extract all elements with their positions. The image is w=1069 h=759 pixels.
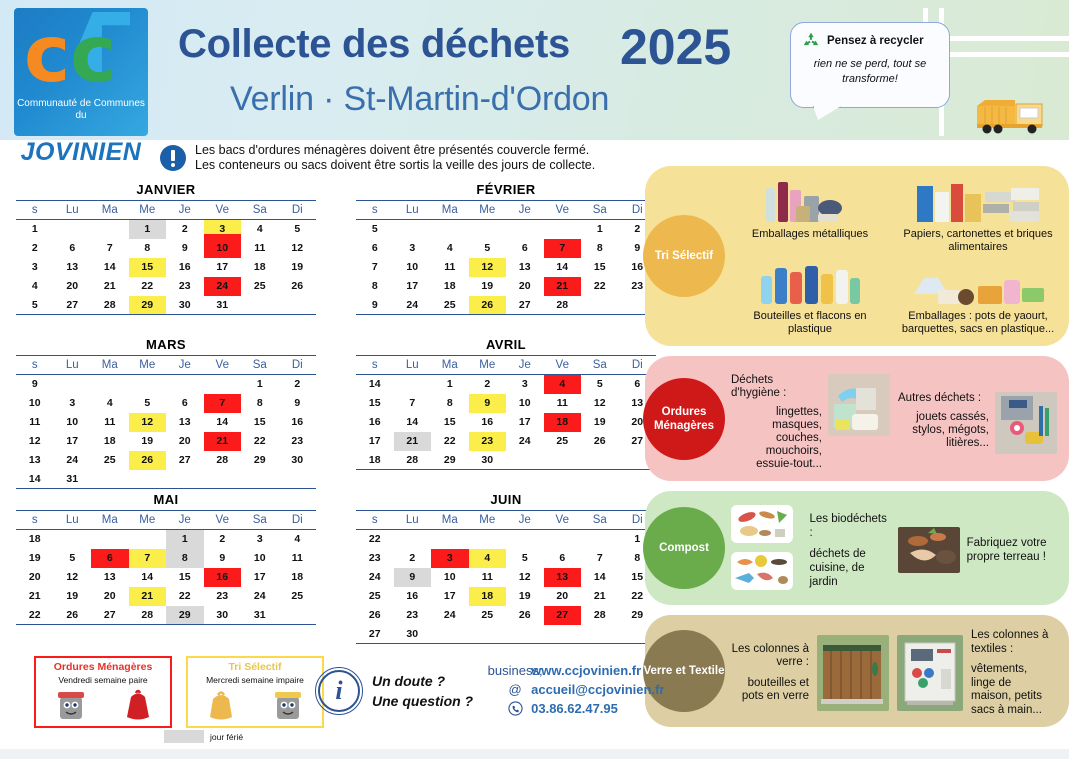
calendar-day-cell[interactable]: 24 — [431, 606, 469, 625]
calendar-day-cell[interactable]: 22 — [431, 432, 469, 451]
calendar-day-cell[interactable]: 16 — [204, 568, 242, 587]
calendar-day-cell[interactable]: 12 — [129, 413, 167, 432]
calendar-day-cell[interactable]: 25 — [279, 587, 317, 606]
calendar-week-row: 1721222324252627 — [356, 432, 656, 451]
calendar-day-cell[interactable]: 14 — [129, 568, 167, 587]
calendar-day-cell[interactable]: 13 — [506, 258, 544, 277]
calendar-day-cell[interactable]: 21 — [544, 277, 582, 296]
calendar-day-cell[interactable]: 27 — [166, 451, 204, 470]
calendar-header-me: Me — [129, 511, 167, 530]
calendar-day-cell[interactable]: 11 — [469, 568, 507, 587]
tri-item-1: Papiers, cartonettes et briques alimenta… — [899, 176, 1057, 254]
calendar-day-cell[interactable]: 11 — [544, 394, 582, 413]
calendar-day-cell[interactable]: 2 — [279, 375, 317, 394]
calendar-day-cell[interactable]: 7 — [544, 239, 582, 258]
legend-ferie-label: jour férié — [210, 732, 243, 742]
calendar-day-cell[interactable]: 11 — [91, 413, 129, 432]
calendar-day-cell[interactable]: 26 — [469, 296, 507, 315]
calendar-header-sa: Sa — [581, 201, 619, 220]
calendar-day-cell[interactable]: 17 — [54, 432, 92, 451]
calendar-day-cell[interactable]: 17 — [506, 413, 544, 432]
calendar-day-cell[interactable]: 29 — [431, 451, 469, 470]
verre-glass-body: bouteilles et pots en verre — [742, 677, 809, 703]
calendar-day-cell[interactable]: 20 — [506, 277, 544, 296]
calendar-day-cell[interactable]: 2 — [166, 220, 204, 239]
calendar-header-me: Me — [129, 201, 167, 220]
grey-bin-character-icon — [54, 687, 88, 723]
calendar-day-cell[interactable]: 26 — [129, 451, 167, 470]
calendar-day-cell[interactable]: 7 — [91, 239, 129, 258]
calendar-header-ve: Ve — [544, 356, 582, 375]
calendar-header-je: Je — [506, 356, 544, 375]
calendar-day-cell[interactable]: 8 — [129, 239, 167, 258]
bubble-title: Pensez à recycler — [827, 35, 924, 47]
calendar-day-cell[interactable]: 19 — [469, 277, 507, 296]
contact-email[interactable]: accueil@ccjovinien.fr — [531, 682, 664, 697]
calendar-day-cell[interactable]: 7 — [204, 394, 242, 413]
calendar-week-number: 8 — [356, 277, 394, 296]
calendar-empty-cell — [129, 470, 167, 489]
calendar-day-cell[interactable]: 28 — [129, 606, 167, 625]
calendar-day-cell[interactable]: 6 — [506, 239, 544, 258]
calendar-day-cell[interactable]: 26 — [54, 606, 92, 625]
calendar-day-cell[interactable]: 24 — [204, 277, 242, 296]
calendar-week-row: 710111213141516 — [356, 258, 656, 277]
contact-phone[interactable]: 03.86.62.47.95 — [531, 701, 618, 716]
calendar-day-cell[interactable]: 16 — [394, 587, 432, 606]
calendar-day-cell[interactable]: 10 — [204, 239, 242, 258]
calendar-header-ma: Ma — [431, 511, 469, 530]
calendar-day-cell[interactable]: 14 — [544, 258, 582, 277]
calendar-day-cell[interactable]: 23 — [394, 606, 432, 625]
metal-packaging-photo — [731, 176, 889, 228]
calendar-week-row: 912 — [16, 375, 316, 394]
calendar-day-cell[interactable]: 4 — [241, 220, 279, 239]
calendar-header-ma: Ma — [91, 201, 129, 220]
calendar-week-row: 26789101112 — [16, 239, 316, 258]
calendar-day-cell[interactable]: 14 — [204, 413, 242, 432]
compost-right-text: Fabriquez votre propre terreau ! — [967, 536, 1057, 564]
calendar-day-cell[interactable]: 3 — [241, 530, 279, 549]
info-icon: i — [318, 670, 360, 712]
calendar-day-cell[interactable]: 11 — [241, 239, 279, 258]
calendar-header-je: Je — [166, 511, 204, 530]
calendar-day-cell[interactable]: 4 — [544, 375, 582, 394]
calendar-day-cell[interactable]: 5 — [54, 549, 92, 568]
calendar-empty-cell — [506, 220, 544, 239]
calendar-day-cell[interactable]: 22 — [581, 277, 619, 296]
calendar-day-cell[interactable]: 14 — [91, 258, 129, 277]
calendar-week-number: 6 — [356, 239, 394, 258]
calendar-day-cell[interactable]: 16 — [279, 413, 317, 432]
calendar-day-cell[interactable]: 3 — [394, 239, 432, 258]
calendar-day-cell[interactable]: 17 — [431, 587, 469, 606]
calendar-day-cell[interactable]: 23 — [166, 277, 204, 296]
calendar-day-cell[interactable]: 5 — [581, 375, 619, 394]
calendar-day-cell[interactable]: 20 — [166, 432, 204, 451]
calendar-empty-cell — [91, 530, 129, 549]
notice-text: Les bacs d'ordures ménagères doivent êtr… — [195, 143, 595, 173]
calendar-week-number: 19 — [16, 549, 54, 568]
calendar-week-number: 20 — [16, 568, 54, 587]
ordures-autres-body: jouets cassés, stylos, mégots, litières.… — [898, 411, 989, 450]
garbage-truck-icon — [975, 96, 1047, 134]
other-waste-photo — [995, 392, 1057, 454]
calendar-day-cell[interactable]: 28 — [544, 296, 582, 315]
calendar-day-cell[interactable]: 8 — [241, 394, 279, 413]
calendar-day-cell[interactable]: 11 — [431, 258, 469, 277]
calendar-day-cell[interactable]: 21 — [129, 587, 167, 606]
calendar-week-number: 12 — [16, 432, 54, 451]
calendar-day-cell[interactable]: 20 — [91, 587, 129, 606]
calendar-day-cell[interactable]: 14 — [394, 413, 432, 432]
calendar-week-row: 1431 — [16, 470, 316, 489]
calendar-day-cell[interactable]: 3 — [506, 375, 544, 394]
calendar-day-cell[interactable]: 9 — [394, 568, 432, 587]
calendar-day-cell[interactable]: 5 — [506, 549, 544, 568]
calendar-day-cell[interactable]: 24 — [54, 451, 92, 470]
tri-item-0: Emballages métalliques — [731, 176, 889, 254]
calendar-day-cell[interactable]: 18 — [544, 413, 582, 432]
calendar-day-cell[interactable]: 2 — [469, 375, 507, 394]
calendar-day-cell[interactable]: 29 — [166, 606, 204, 625]
calendar-day-cell[interactable]: 6 — [54, 239, 92, 258]
calendar-day-cell[interactable]: 7 — [394, 394, 432, 413]
compost-soil-photo — [898, 527, 960, 573]
compost-text: Les biodéchets : déchets de cuisine, de … — [810, 512, 891, 589]
tri-item-3-caption: Emballages : pots de yaourt, barquettes,… — [899, 310, 1057, 336]
notice-banner: Les bacs d'ordures ménagères doivent êtr… — [160, 143, 595, 173]
calendar-day-cell[interactable]: 21 — [91, 277, 129, 296]
calendar-week-number: 4 — [16, 277, 54, 296]
calendar-day-cell[interactable]: 19 — [506, 587, 544, 606]
contact-website[interactable]: www.ccjovinien.fr — [531, 663, 641, 678]
calendar-day-cell[interactable]: 31 — [241, 606, 279, 625]
calendar-day-cell[interactable]: 30 — [204, 606, 242, 625]
calendar-day-cell[interactable]: 31 — [204, 296, 242, 315]
calendar-empty-cell — [544, 530, 582, 549]
calendar-day-cell[interactable]: 5 — [469, 239, 507, 258]
calendar-day-cell[interactable]: 18 — [279, 568, 317, 587]
page-subtitle: Verlin · St-Martin-d'Ordon — [230, 80, 609, 119]
calendar-empty-cell — [506, 625, 544, 644]
calendar-day-cell[interactable]: 9 — [469, 394, 507, 413]
contact-question: Un doute ? Une question ? — [372, 671, 473, 711]
calendar-month-juin: JUINsLuMaMeJeVeSaDi221232345678249101112… — [356, 492, 656, 644]
calendar-empty-cell — [544, 451, 582, 470]
calendar-header-ma: Ma — [91, 356, 129, 375]
calendar-day-cell[interactable]: 28 — [394, 451, 432, 470]
calendar-empty-cell — [54, 220, 92, 239]
calendar-day-cell[interactable]: 11 — [279, 549, 317, 568]
calendar-day-cell[interactable]: 12 — [581, 394, 619, 413]
calendar-empty-cell — [129, 530, 167, 549]
calendar-day-cell[interactable]: 23 — [469, 432, 507, 451]
calendar-day-cell[interactable]: 15 — [241, 413, 279, 432]
calendar-day-cell[interactable]: 22 — [129, 277, 167, 296]
calendar-day-cell[interactable]: 12 — [506, 568, 544, 587]
calendar-table: sLuMaMeJeVeSaDi1412345615789101112131614… — [356, 355, 656, 470]
calendar-day-cell[interactable]: 22 — [166, 587, 204, 606]
panel-verre-textile[interactable]: Verre et Textile Les colonnes à verre : … — [645, 615, 1069, 727]
yellow-bag-icon — [206, 687, 236, 723]
calendar-empty-cell — [91, 220, 129, 239]
calendar-day-cell[interactable]: 12 — [279, 239, 317, 258]
calendar-header-s: s — [356, 201, 394, 220]
calendar-month-février: FÉVRIERsLuMaMeJeVeSaDi512634567897101112… — [356, 182, 656, 315]
calendar-header-lu: Lu — [394, 511, 432, 530]
calendar-week-number: 15 — [356, 394, 394, 413]
calendar-day-cell[interactable]: 13 — [91, 568, 129, 587]
calendar-day-cell[interactable]: 30 — [166, 296, 204, 315]
legend-om-title: Ordures Ménagères — [36, 661, 170, 673]
calendar-day-cell[interactable]: 9 — [166, 239, 204, 258]
calendar-day-cell[interactable]: 5 — [279, 220, 317, 239]
calendar-day-cell[interactable]: 2 — [204, 530, 242, 549]
calendar-header-ve: Ve — [544, 201, 582, 220]
calendar-empty-cell — [581, 451, 619, 470]
calendar-day-cell[interactable]: 19 — [54, 587, 92, 606]
calendar-empty-cell — [54, 530, 92, 549]
verre-textile-head: Les colonnes à textiles : — [971, 629, 1053, 656]
calendar-day-cell[interactable]: 23 — [204, 587, 242, 606]
calendar-day-cell[interactable]: 19 — [129, 432, 167, 451]
calendar-day-cell[interactable]: 16 — [469, 413, 507, 432]
calendar-day-cell[interactable]: 25 — [469, 606, 507, 625]
calendar-day-cell[interactable]: 27 — [544, 606, 582, 625]
calendar-day-cell[interactable]: 27 — [91, 606, 129, 625]
footer-bar — [0, 749, 1069, 759]
calendar-day-cell[interactable]: 13 — [544, 568, 582, 587]
contact-phone-row[interactable]: 03.86.62.47.95 — [507, 700, 664, 716]
calendar-week-row: 18282930 — [356, 451, 656, 470]
calendar-day-cell[interactable]: 27 — [506, 296, 544, 315]
calendar-day-cell[interactable]: 10 — [506, 394, 544, 413]
calendar-day-cell[interactable]: 17 — [241, 568, 279, 587]
calendar-day-cell[interactable]: 20 — [54, 277, 92, 296]
calendar-day-cell[interactable]: 8 — [166, 549, 204, 568]
calendar-day-cell[interactable]: 18 — [431, 277, 469, 296]
calendar-day-cell[interactable]: 19 — [581, 413, 619, 432]
calendar-day-cell[interactable]: 10 — [241, 549, 279, 568]
calendar-day-cell[interactable]: 14 — [581, 568, 619, 587]
calendar-day-cell[interactable]: 15 — [431, 413, 469, 432]
calendar-day-cell[interactable]: 1 — [166, 530, 204, 549]
verre-col-glass-text: Les colonnes à verre : bouteilles et pot… — [731, 643, 809, 704]
calendar-day-cell[interactable]: 24 — [394, 296, 432, 315]
calendar-day-cell[interactable]: 18 — [241, 258, 279, 277]
calendar-day-cell[interactable]: 3 — [54, 394, 92, 413]
logo-caption: Communauté de Communes du — [16, 98, 146, 122]
calendar-day-cell[interactable]: 24 — [241, 587, 279, 606]
calendar-month-title: FÉVRIER — [356, 182, 656, 197]
calendar-week-number: 9 — [16, 375, 54, 394]
calendar-week-number: 1 — [16, 220, 54, 239]
calendar-week-number: 14 — [16, 470, 54, 489]
calendar-day-cell[interactable]: 3 — [204, 220, 242, 239]
calendar-week-row: 249101112131415 — [356, 568, 656, 587]
logo-cc-mark: c c — [22, 16, 140, 98]
calendar-day-cell[interactable]: 9 — [279, 394, 317, 413]
calendar-day-cell[interactable]: 31 — [54, 470, 92, 489]
calendar-day-cell[interactable]: 15 — [166, 568, 204, 587]
calendar-week-row: 2516171819202122 — [356, 587, 656, 606]
compost-body: déchets de cuisine, de jardin — [810, 548, 866, 588]
verre-col-textile-text: Les colonnes à textiles : vêtements, lin… — [971, 629, 1053, 717]
contact-email-row[interactable]: @ accueil@ccjovinien.fr — [507, 681, 664, 697]
glass-container-photo — [817, 635, 889, 711]
calendar-empty-cell — [394, 530, 432, 549]
calendar-header-sa: Sa — [581, 356, 619, 375]
calendar-day-cell[interactable]: 28 — [91, 296, 129, 315]
calendar-empty-cell — [581, 625, 619, 644]
calendar-empty-cell — [544, 220, 582, 239]
calendar-day-cell[interactable]: 22 — [241, 432, 279, 451]
calendar-week-row: 1324252627282930 — [16, 451, 316, 470]
calendar-header-je: Je — [506, 201, 544, 220]
calendar-week-row: 2119202122232425 — [16, 587, 316, 606]
calendar-month-title: MAI — [16, 492, 316, 507]
calendar-empty-cell — [91, 470, 129, 489]
calendar-week-number: 27 — [356, 625, 394, 644]
calendar-day-cell[interactable]: 8 — [431, 394, 469, 413]
calendar-day-cell[interactable]: 18 — [469, 587, 507, 606]
recycle-speech-bubble: Pensez à recycler rien ne se perd, tout … — [790, 22, 950, 108]
exclamation-icon — [160, 145, 186, 171]
tri-item-1-caption: Papiers, cartonettes et briques alimenta… — [899, 228, 1057, 254]
calendar-day-cell[interactable]: 29 — [241, 451, 279, 470]
calendar-day-cell[interactable]: 17 — [204, 258, 242, 277]
cc-jovinien-logo: c c Communauté de Communes du — [14, 8, 148, 136]
calendar-header-ve: Ve — [544, 511, 582, 530]
calendar-week-number: 25 — [356, 587, 394, 606]
calendar-empty-cell — [506, 451, 544, 470]
calendar-grid: JANVIERsLuMaMeJeVeSaDi112345267891011123… — [0, 182, 650, 652]
calendar-month-title: JANVIER — [16, 182, 316, 197]
calendar-table: sLuMaMeJeVeSaDi1812341956789101120121314… — [16, 510, 316, 625]
calendar-empty-cell — [581, 296, 619, 315]
calendar-day-cell[interactable]: 17 — [394, 277, 432, 296]
calendar-header-lu: Lu — [394, 201, 432, 220]
calendar-day-cell[interactable]: 6 — [91, 549, 129, 568]
page-year: 2025 — [620, 18, 731, 76]
calendar-header-ma: Ma — [91, 511, 129, 530]
logo-letter-c-green: c — [70, 16, 116, 94]
calendar-week-row: 2012131415161718 — [16, 568, 316, 587]
calendar-day-cell[interactable]: 21 — [204, 432, 242, 451]
calendar-header-je: Je — [166, 356, 204, 375]
calendar-day-cell[interactable]: 15 — [129, 258, 167, 277]
calendar-day-cell[interactable]: 4 — [431, 239, 469, 258]
calendar-day-cell[interactable]: 18 — [91, 432, 129, 451]
contact-website-row[interactable]: business; www.ccjovinien.fr — [507, 662, 664, 678]
tri-item-0-caption: Emballages métalliques — [731, 228, 889, 241]
calendar-day-cell[interactable]: 19 — [279, 258, 317, 277]
calendar-week-row: 313141516171819 — [16, 258, 316, 277]
calendar-month-janvier: JANVIERsLuMaMeJeVeSaDi112345267891011123… — [16, 182, 316, 315]
calendar-day-cell[interactable]: 28 — [581, 606, 619, 625]
calendar-day-cell[interactable]: 26 — [279, 277, 317, 296]
calendar-day-cell[interactable]: 4 — [469, 549, 507, 568]
calendar-day-cell[interactable]: 4 — [279, 530, 317, 549]
calendar-day-cell[interactable]: 12 — [54, 568, 92, 587]
calendar-day-cell[interactable]: 12 — [469, 258, 507, 277]
calendar-day-cell[interactable]: 13 — [54, 258, 92, 277]
calendar-header-ma: Ma — [431, 201, 469, 220]
calendar-day-cell[interactable]: 24 — [506, 432, 544, 451]
calendar-header-me: Me — [129, 356, 167, 375]
calendar-week-row: 63456789 — [356, 239, 656, 258]
calendar-header-je: Je — [506, 511, 544, 530]
calendar-header-di: Di — [279, 511, 317, 530]
calendar-header-s: s — [16, 511, 54, 530]
calendar-day-cell[interactable]: 30 — [279, 451, 317, 470]
calendar-day-cell[interactable]: 9 — [204, 549, 242, 568]
calendar-week-row: 817181920212223 — [356, 277, 656, 296]
calendar-day-cell[interactable]: 29 — [129, 296, 167, 315]
calendar-day-cell[interactable]: 21 — [581, 587, 619, 606]
calendar-day-cell[interactable]: 30 — [469, 451, 507, 470]
calendar-day-cell[interactable]: 13 — [166, 413, 204, 432]
calendar-day-cell[interactable]: 23 — [279, 432, 317, 451]
panel-ordures-menageres[interactable]: Ordures Ménagères Déchets d'hygiène : li… — [645, 356, 1069, 481]
calendar-day-cell[interactable]: 16 — [166, 258, 204, 277]
calendar-day-cell[interactable]: 6 — [544, 549, 582, 568]
calendar-day-cell[interactable]: 20 — [544, 587, 582, 606]
ordures-hygiene-head: Déchets d'hygiène : — [731, 374, 822, 400]
calendar-day-cell[interactable]: 6 — [166, 394, 204, 413]
calendar-day-cell[interactable]: 4 — [91, 394, 129, 413]
calendar-day-cell[interactable]: 25 — [241, 277, 279, 296]
calendar-day-cell[interactable]: 26 — [581, 432, 619, 451]
calendar-day-cell[interactable]: 21 — [394, 432, 432, 451]
calendar-day-cell[interactable]: 7 — [129, 549, 167, 568]
plastic-packaging-photo — [899, 258, 1057, 310]
calendar-day-cell[interactable]: 26 — [506, 606, 544, 625]
calendar-week-number: 11 — [16, 413, 54, 432]
calendar-day-cell[interactable]: 28 — [204, 451, 242, 470]
calendar-day-cell[interactable]: 25 — [91, 451, 129, 470]
compost-icons — [731, 505, 803, 595]
legend-ordures-menageres: Ordures Ménagères Vendredi semaine paire — [34, 656, 172, 728]
calendar-day-cell[interactable]: 8 — [581, 239, 619, 258]
panel-compost[interactable]: Compost — [645, 491, 1069, 605]
calendar-week-number: 17 — [356, 432, 394, 451]
calendar-day-cell[interactable]: 1 — [129, 220, 167, 239]
panel-tri-selectif[interactable]: Tri Sélectif Emballages métalliques — [645, 166, 1069, 346]
calendar-day-cell[interactable]: 30 — [394, 625, 432, 644]
calendar-day-cell[interactable]: 5 — [129, 394, 167, 413]
calendar-day-cell[interactable]: 2 — [394, 549, 432, 568]
calendar-month-title: AVRIL — [356, 337, 656, 352]
calendar-day-cell[interactable]: 1 — [431, 375, 469, 394]
calendar-day-cell[interactable]: 10 — [54, 413, 92, 432]
calendar-day-cell[interactable]: 1 — [241, 375, 279, 394]
calendar-day-cell[interactable]: 15 — [581, 258, 619, 277]
legend-tri-title: Tri Sélectif — [188, 661, 322, 673]
tri-item-2: Bouteilles et flacons en plastique — [731, 258, 889, 336]
calendar-day-cell[interactable]: 10 — [394, 258, 432, 277]
calendar-day-cell[interactable]: 1 — [581, 220, 619, 239]
calendar-header-di: Di — [279, 356, 317, 375]
calendar-day-cell[interactable]: 10 — [431, 568, 469, 587]
globe-icon: business; — [507, 662, 523, 678]
calendar-day-cell[interactable]: 25 — [431, 296, 469, 315]
calendar-day-cell[interactable]: 25 — [544, 432, 582, 451]
calendar-day-cell[interactable]: 7 — [581, 549, 619, 568]
calendar-day-cell[interactable]: 27 — [54, 296, 92, 315]
calendar-day-cell[interactable]: 3 — [431, 549, 469, 568]
